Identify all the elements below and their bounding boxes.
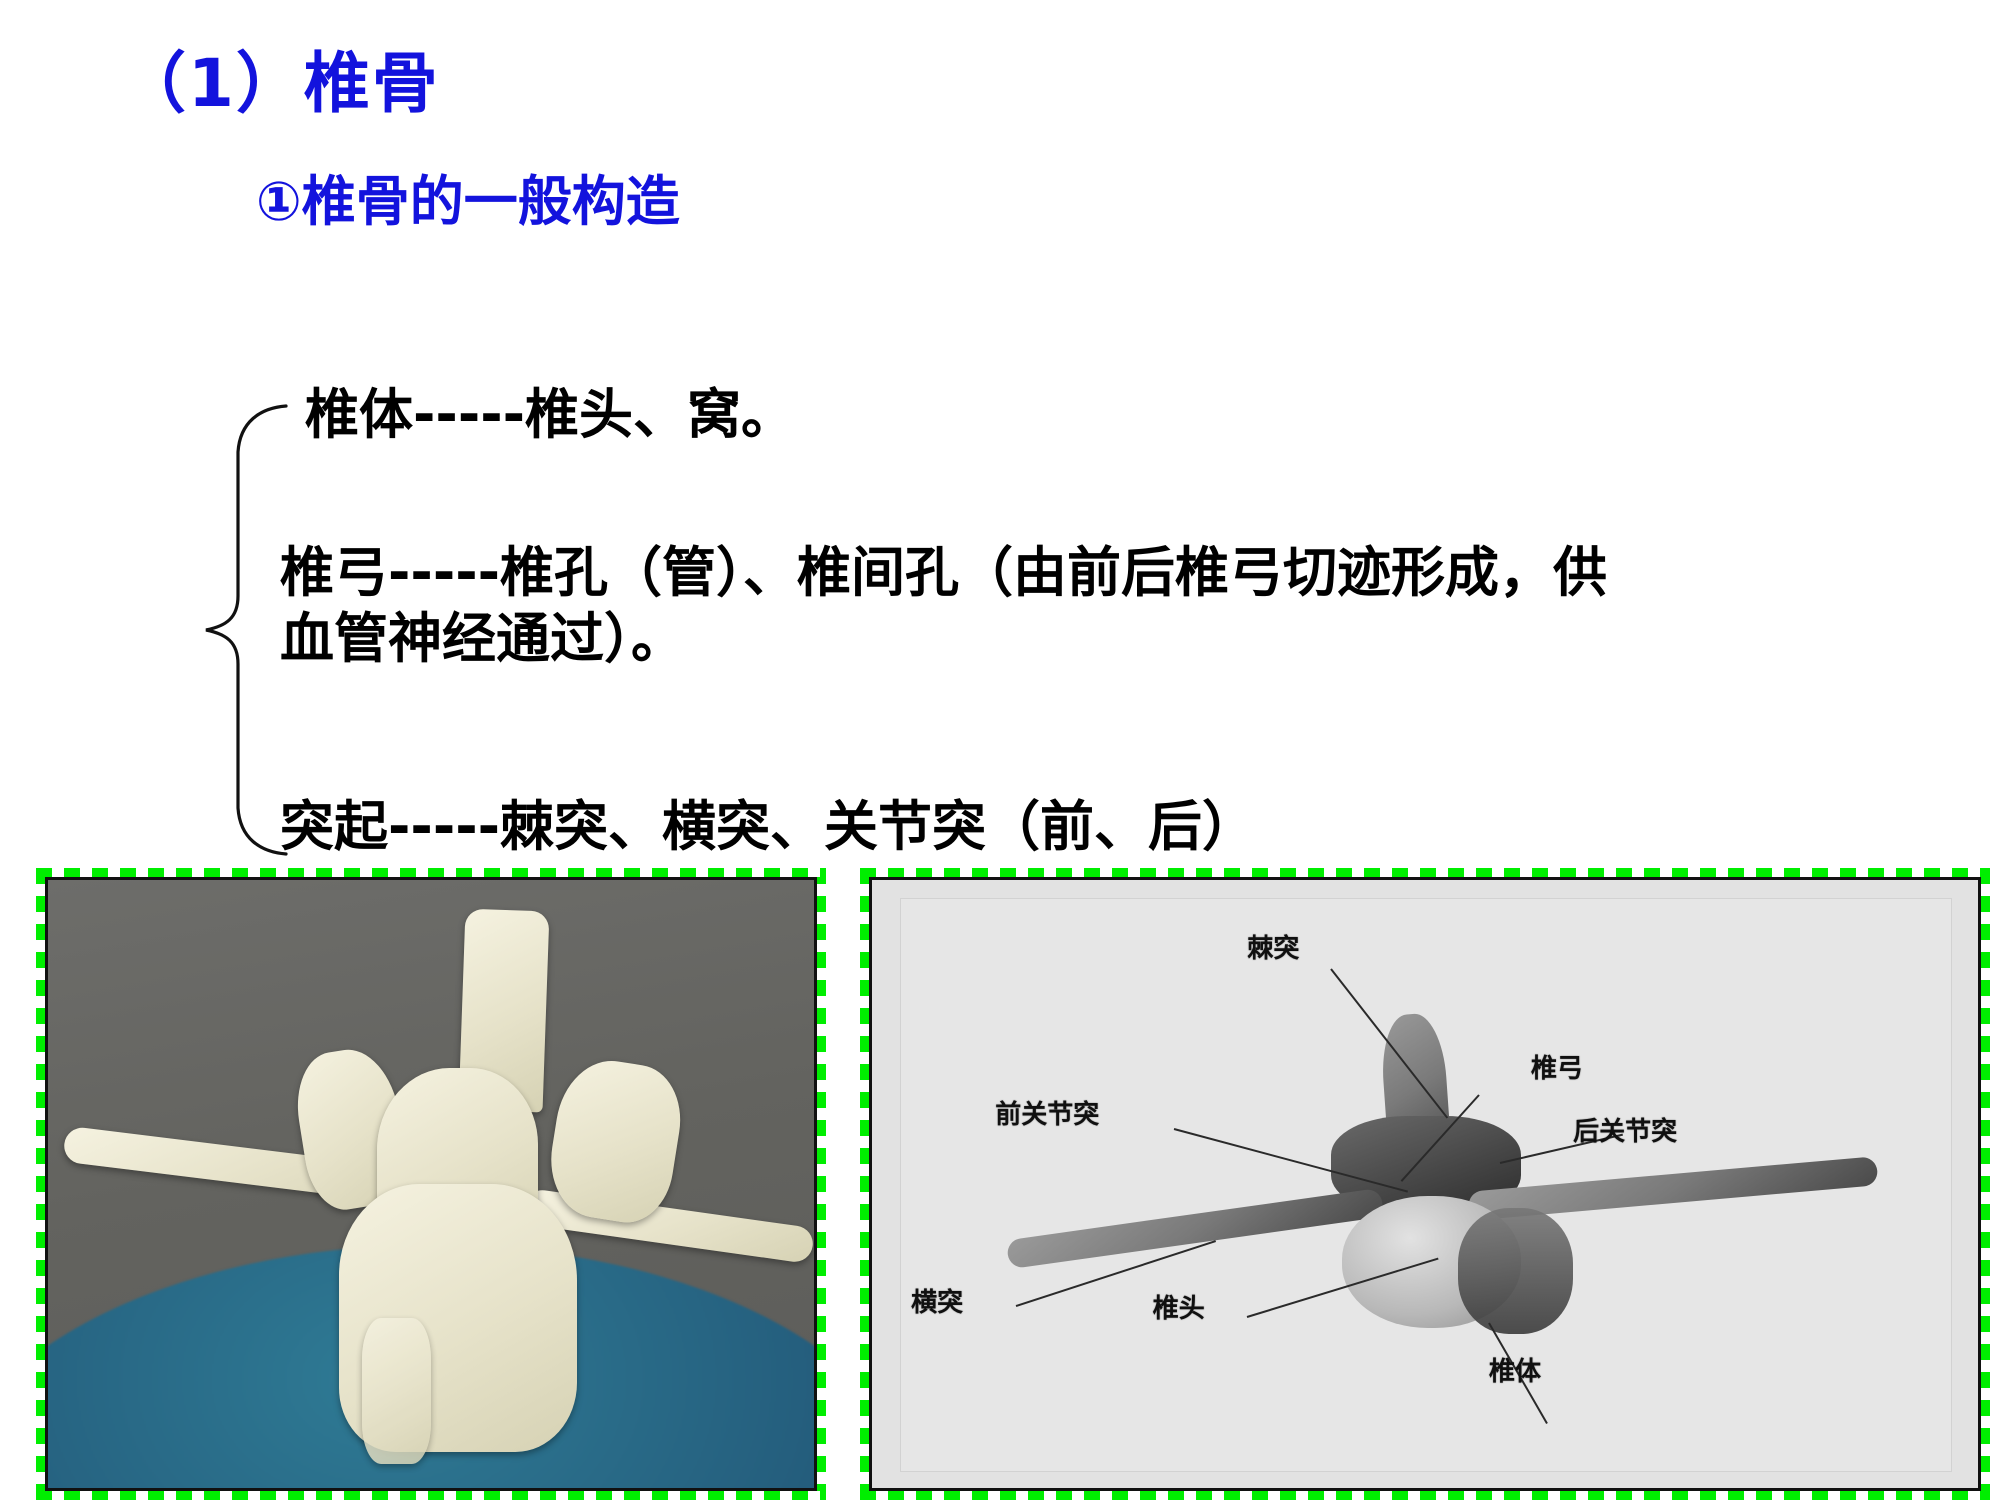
diagram-label-anterior-articular-process: 前关节突 <box>995 1094 1099 1131</box>
body-line-processes: 突起-----棘突、横突、关节突（前、后） <box>280 794 1256 860</box>
vertebral-body-shadow <box>362 1318 431 1464</box>
scan-plate: 棘突 椎弓 前关节突 后关节突 横突 椎头 椎体 <box>900 898 1953 1472</box>
diagram-label-vertebral-head: 椎头 <box>1153 1288 1205 1325</box>
diagram-vertebral-body <box>1458 1208 1574 1334</box>
page-subtitle: ①椎骨的一般构造 <box>256 172 680 231</box>
diagram-label-posterior-articular-process: 后关节突 <box>1573 1111 1677 1148</box>
vertebra-specimen-photo-frame <box>36 868 826 1500</box>
diagram-label-vertebral-body: 椎体 <box>1489 1351 1541 1388</box>
body-line-vertebral-body: 椎体-----椎头、窝。 <box>305 382 795 448</box>
diagram-transverse-left <box>1006 1187 1385 1268</box>
diagram-label-transverse-process: 横突 <box>911 1282 963 1319</box>
vertebra-diagram-frame: 棘突 椎弓 前关节突 后关节突 横突 椎头 椎体 <box>860 868 1990 1500</box>
vertebra-diagram: 棘突 椎弓 前关节突 后关节突 横突 椎头 椎体 <box>869 877 1981 1491</box>
body-line-vertebral-arch: 椎弓-----椎孔（管）、椎间孔（由前后椎弓切迹形成，供血管神经通过）。 <box>280 540 1620 672</box>
curly-brace-icon <box>200 400 290 860</box>
vertebra-specimen-photo <box>45 877 817 1491</box>
page-title: （1）椎骨 <box>120 48 440 121</box>
diagram-label-spinous-process: 棘突 <box>1247 928 1299 965</box>
curly-brace <box>200 400 290 860</box>
diagram-label-vertebral-arch: 椎弓 <box>1531 1048 1583 1085</box>
